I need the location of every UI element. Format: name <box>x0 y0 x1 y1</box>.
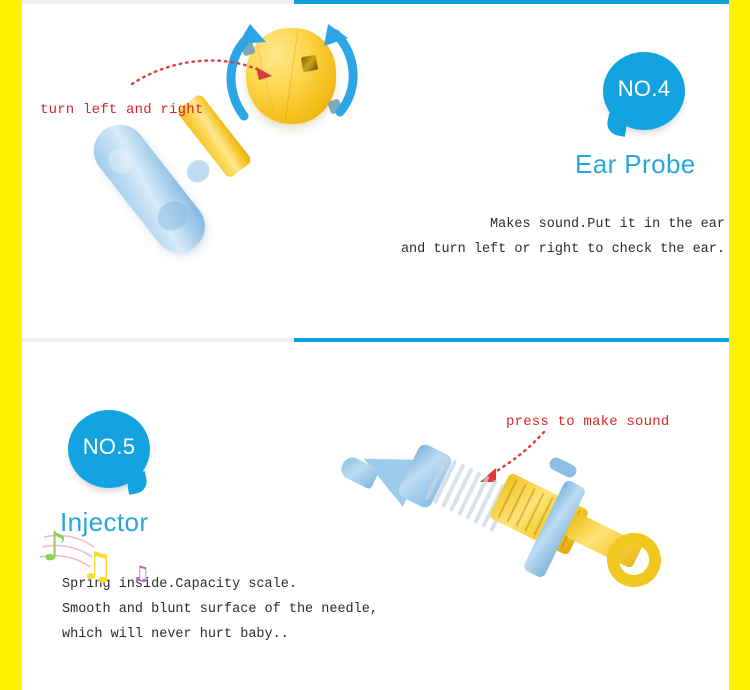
illustration-injector-toy <box>335 435 640 610</box>
probe-head <box>246 28 336 124</box>
badge-balloon-no4: NO.4 <box>603 52 685 130</box>
probe-nub-bottom <box>327 98 343 114</box>
injector-stub <box>548 456 579 480</box>
annotation-press-to-make-sound: press to make sound <box>506 414 669 430</box>
probe-handle-button-small <box>182 155 214 187</box>
curved-arrow-right-head-icon <box>324 24 348 46</box>
badge-balloon-no5: NO.5 <box>68 410 150 488</box>
music-notes-group: ♪ ♫ ♫ <box>40 527 170 597</box>
separator-bar-top <box>22 0 729 4</box>
music-note-purple-icon: ♫ <box>132 563 150 583</box>
section-injector: NO.5 Injector Spring inside.Capacity sca… <box>22 342 729 690</box>
frame-band-left <box>0 0 22 690</box>
separator-segment-grey <box>22 0 294 4</box>
description-line-1: Makes sound.Put it in the ear <box>285 212 725 237</box>
balloon-tail-icon <box>125 471 149 495</box>
separator-segment-blue <box>294 0 729 4</box>
probe-head-seam-1 <box>285 32 298 119</box>
separator-segment-blue <box>294 338 729 342</box>
badge-number-label: NO.4 <box>618 78 671 100</box>
probe-light-window <box>301 55 318 72</box>
product-detail-page: turn left and right NO.4 Ear Probe Makes… <box>0 0 750 690</box>
annotation-turn-left-right: turn left and right <box>40 102 203 118</box>
section-ear-probe: turn left and right NO.4 Ear Probe Makes… <box>22 4 729 338</box>
music-note-green-icon: ♪ <box>42 527 68 567</box>
probe-head-seam-2 <box>254 37 274 115</box>
separator-segment-grey <box>22 338 294 342</box>
badge-number-label: NO.5 <box>83 436 136 458</box>
description-line-2: Smooth and blunt surface of the needle, <box>62 597 378 622</box>
frame-band-right <box>729 0 750 690</box>
balloon-tail-icon <box>605 113 629 137</box>
music-note-yellow-icon: ♫ <box>80 547 114 585</box>
description-line-2: and turn left or right to check the ear. <box>285 237 725 262</box>
section-title-ear-probe: Ear Probe <box>575 149 696 180</box>
separator-bar-middle <box>22 338 729 342</box>
description-ear-probe: Makes sound.Put it in the ear and turn l… <box>285 212 725 262</box>
description-line-3: which will never hurt baby.. <box>62 622 378 647</box>
